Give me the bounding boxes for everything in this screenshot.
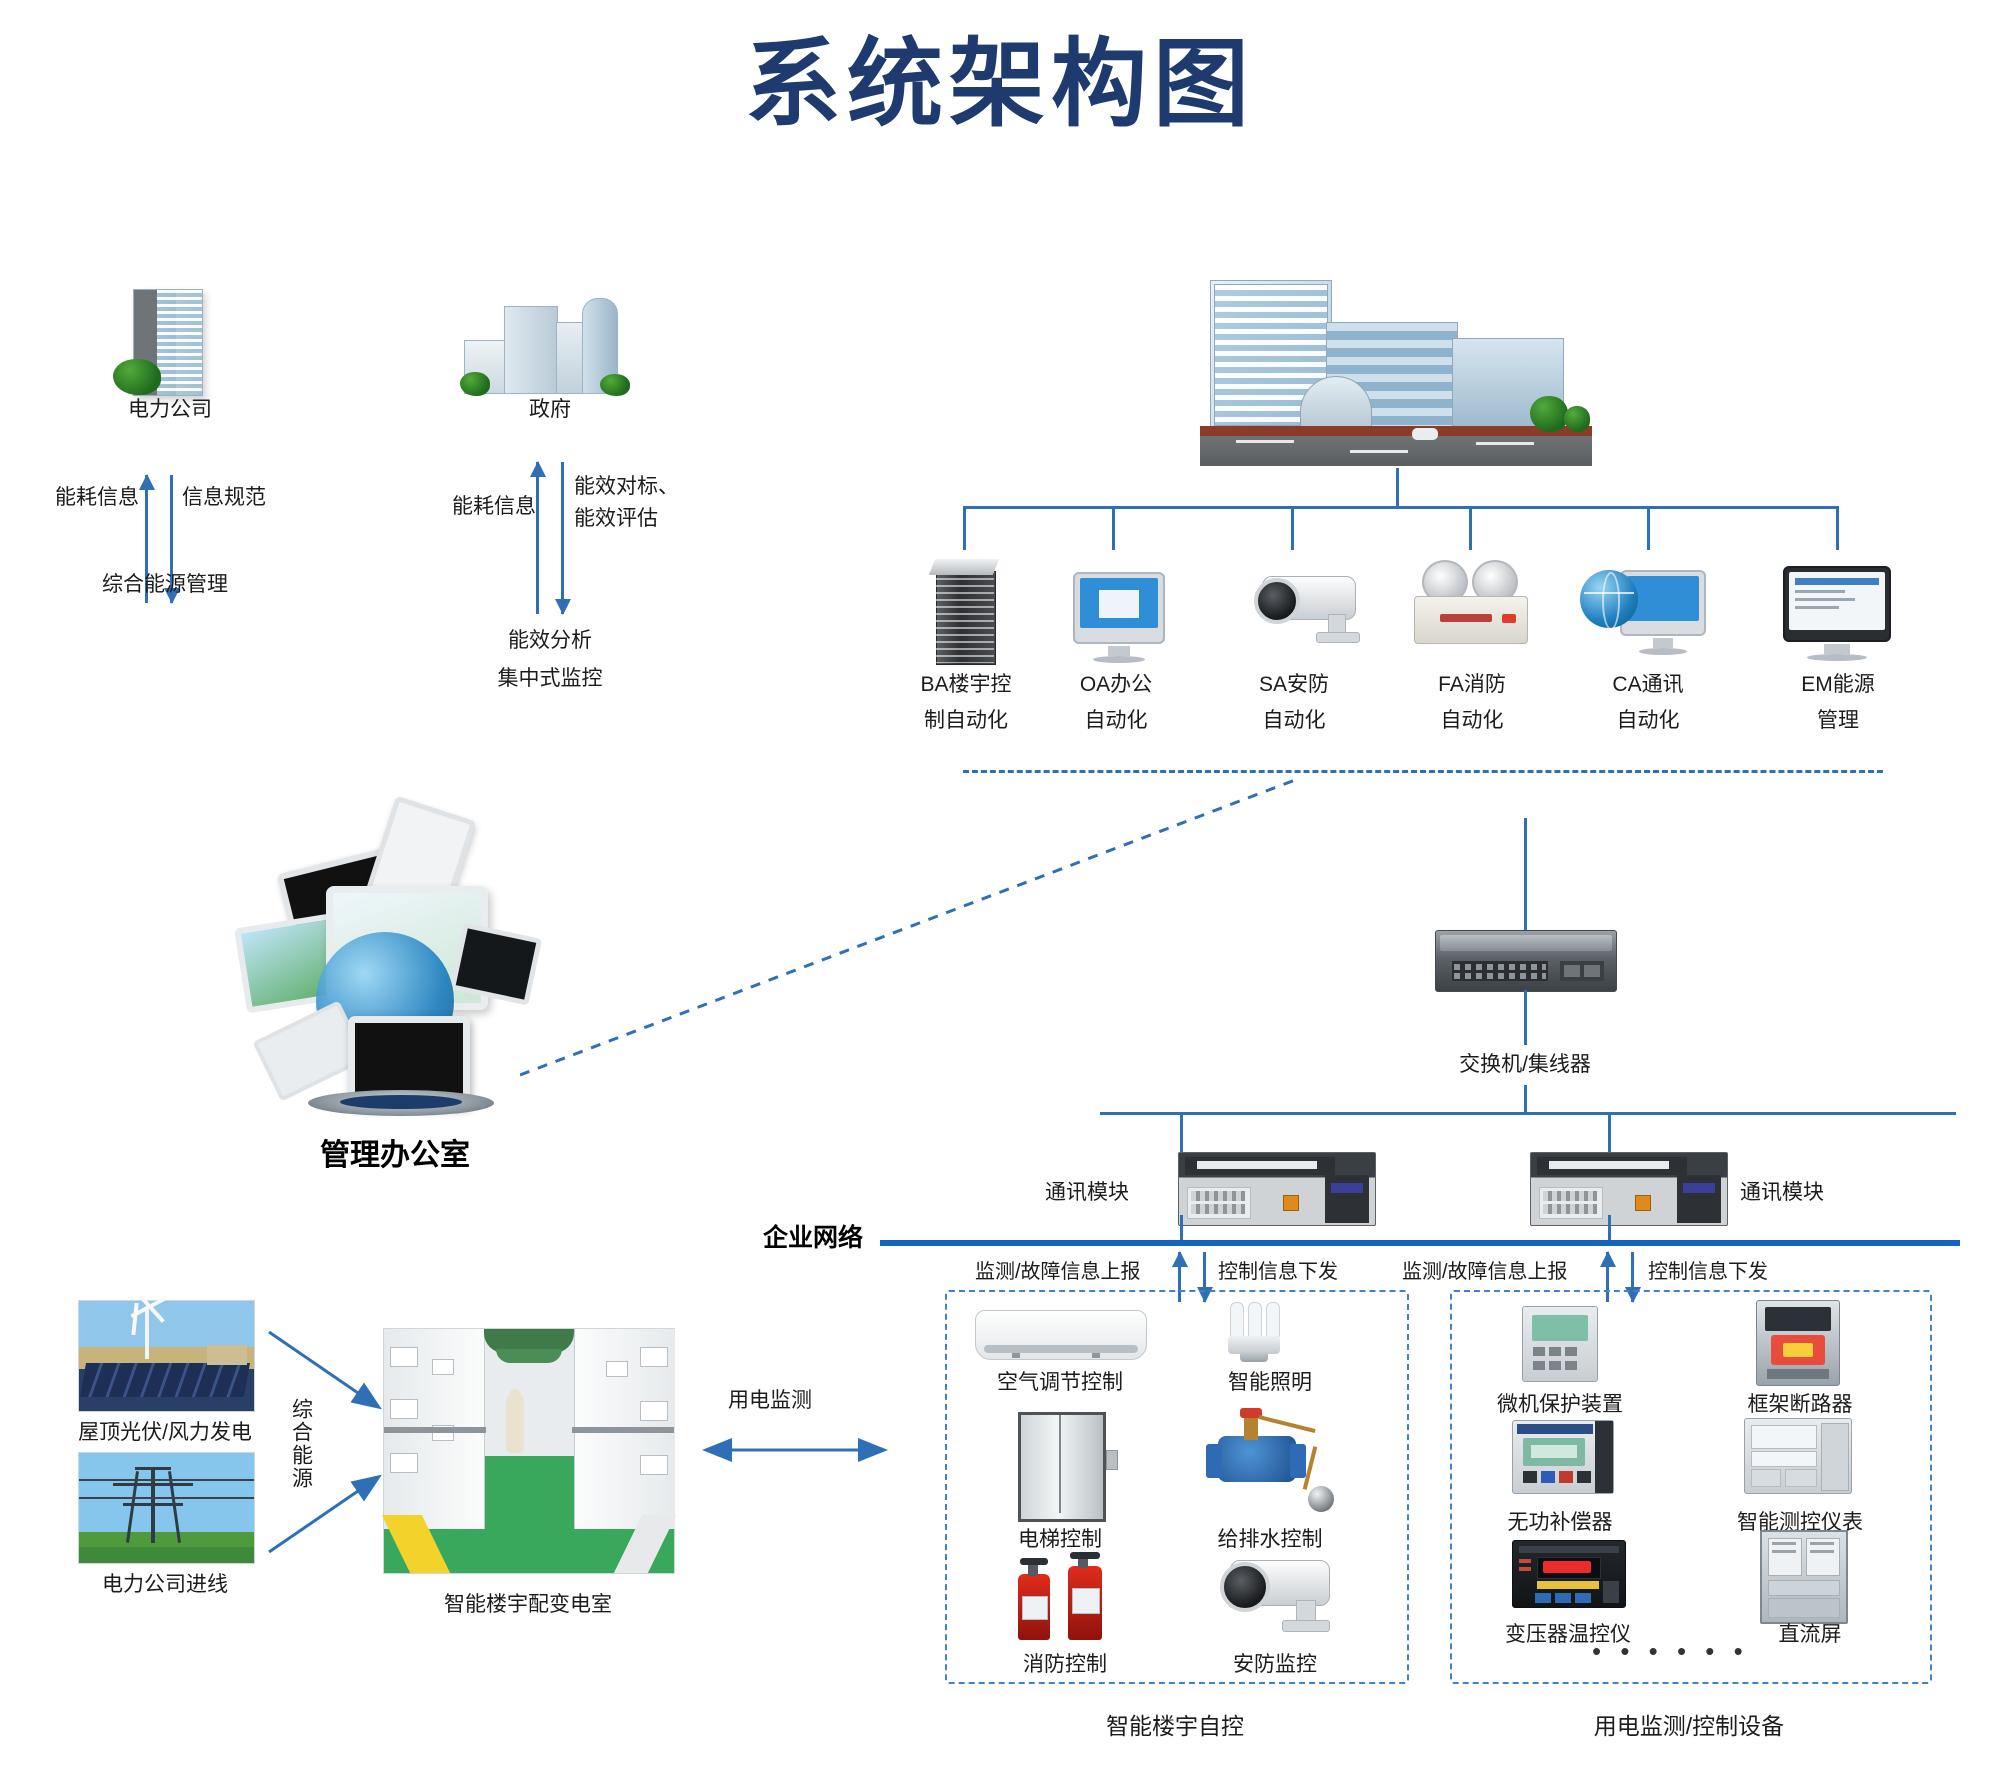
network-switch-icon: [1435, 930, 1617, 992]
security-camera-icon: [1240, 570, 1370, 646]
solar-wind-photo: [78, 1300, 255, 1412]
subsystem-3-line1: SA安防: [1218, 670, 1370, 700]
government-down-label-line2: 能效评估: [574, 504, 658, 534]
subsystem-5-line1: CA通讯: [1572, 670, 1724, 700]
subsystem-bus: [963, 506, 1838, 509]
reactive-compensator-icon: [1512, 1420, 1614, 1494]
switch-uplink-line: [1524, 818, 1527, 930]
subsystem-5-line2: 自动化: [1572, 706, 1724, 736]
subsystem-1-line2: 制自动化: [880, 706, 1052, 736]
switch-label: 交换机/集线器: [1380, 1050, 1670, 1080]
management-office-link: [520, 770, 1320, 1080]
management-office-label: 管理办公室: [205, 1130, 585, 1174]
frame-breaker-icon: [1756, 1300, 1840, 1386]
pm-upload-label: 监测/故障信息上报: [1402, 1258, 1568, 1286]
ba-item-6-label: 安防监控: [1190, 1650, 1360, 1680]
branch-drop-3: [1291, 506, 1294, 550]
cfl-bulb-icon: [1216, 1302, 1296, 1362]
power-monitoring-ellipsis: • • • • • •: [1592, 1636, 1749, 1667]
fire-extinguisher-icon: [1010, 1552, 1120, 1644]
elevator-call-panel-icon: [1106, 1450, 1118, 1470]
power-company-down-label: 信息规范: [182, 483, 266, 513]
switch-downlink-line: [1524, 990, 1527, 1045]
pm-item-2-label: 框架断路器: [1710, 1390, 1890, 1420]
government-icon-group: [460, 288, 640, 398]
power-company-up-label: 能耗信息: [55, 483, 139, 513]
subsystem-6-line2: 管理: [1762, 706, 1914, 736]
subsystem-2-line1: OA办公: [1040, 670, 1192, 700]
subsystem-6-line1: EM能源: [1762, 670, 1914, 700]
security-camera-icon-2: [1200, 1556, 1350, 1642]
integrated-energy-arrow-label: 综合能源: [285, 1398, 315, 1490]
ba-item-2-label: 智能照明: [1180, 1368, 1360, 1398]
campus-building-icon: [1200, 280, 1600, 470]
page-title: 系统架构图: [0, 6, 2000, 145]
power-company-label: 电力公司: [55, 395, 285, 425]
communication-module-icon-2: [1530, 1152, 1728, 1226]
branch-drop-2: [1112, 506, 1115, 550]
power-monitoring-arrow: [700, 1430, 890, 1470]
energy-monitor-icon: [1783, 566, 1891, 642]
subsystem-1-line1: BA楼宇控: [880, 670, 1052, 700]
government-label: 政府: [440, 395, 660, 425]
power-company-icon-group: [105, 285, 235, 400]
integrated-energy-management-label: 综合能源管理: [35, 570, 295, 600]
solar-wind-label: 屋顶光伏/风力发电: [40, 1418, 290, 1448]
branch-drop-5: [1647, 506, 1650, 550]
comm-module-left-label: 通讯模块: [1045, 1178, 1129, 1208]
energy-analysis-label: 能效分析: [430, 626, 670, 656]
ba-upload-label: 监测/故障信息上报: [975, 1258, 1141, 1286]
pm-item-6-label: 直流屏: [1740, 1620, 1880, 1650]
ba-download-label: 控制信息下发: [1218, 1258, 1338, 1286]
emergency-light-icon: [1410, 560, 1535, 650]
subsystem-4-line1: FA消防: [1396, 670, 1548, 700]
ba-item-3-label: 电梯控制: [975, 1525, 1145, 1555]
branch-drop-1: [963, 506, 966, 550]
centralized-monitoring-label: 集中式监控: [430, 664, 670, 694]
building-icon: [930, 555, 1002, 665]
transmission-tower-photo: [78, 1452, 255, 1564]
government-up-arrow: [536, 462, 539, 614]
comm-module-right-label: 通讯模块: [1740, 1178, 1824, 1208]
building-automation-caption: 智能楼宇自控: [945, 1710, 1405, 1743]
air-conditioner-icon: [975, 1310, 1147, 1360]
government-down-arrow: [561, 462, 564, 614]
government-up-label: 能耗信息: [452, 492, 536, 522]
multi-screen-cluster-icon: [230, 800, 560, 1120]
substation-label: 智能楼宇配变电室: [378, 1590, 678, 1620]
pm-download-label: 控制信息下发: [1648, 1258, 1768, 1286]
enterprise-network-label: 企业网络: [763, 1218, 875, 1254]
protection-relay-icon: [1522, 1306, 1598, 1382]
switch-to-bus-line: [1524, 1085, 1527, 1113]
pm-item-3-label: 无功补偿器: [1470, 1508, 1650, 1538]
comm-distribution-bus: [1100, 1112, 1956, 1115]
subsystem-2-line2: 自动化: [1040, 706, 1192, 736]
government-down-label-line1: 能效对标、: [574, 472, 679, 502]
switchgear-room-photo: [383, 1328, 675, 1574]
smart-meter-icon: [1744, 1418, 1852, 1494]
power-monitoring-arrow-label: 用电监测: [728, 1386, 812, 1416]
pm-item-1-label: 微机保护装置: [1470, 1390, 1650, 1420]
branch-drop-4: [1469, 506, 1472, 550]
dc-panel-icon: [1760, 1530, 1848, 1624]
subsystem-4-line2: 自动化: [1396, 706, 1548, 736]
ba-item-1-label: 空气调节控制: [955, 1368, 1165, 1398]
branch-drop-6: [1836, 506, 1839, 550]
globe-network-icon: [1580, 566, 1710, 650]
desktop-monitor-icon: [1073, 572, 1165, 644]
ba-item-4-label: 给排水控制: [1175, 1525, 1365, 1555]
elevator-icon: [1018, 1412, 1106, 1522]
transformer-thermostat-icon: [1512, 1540, 1626, 1608]
water-valve-icon: [1200, 1402, 1340, 1514]
power-monitoring-caption: 用电监测/控制设备: [1450, 1710, 1928, 1743]
subsystem-3-line2: 自动化: [1218, 706, 1370, 736]
campus-trunk-line: [1396, 468, 1399, 508]
enterprise-network-bus: [880, 1240, 1960, 1246]
grid-line-label: 电力公司进线: [40, 1570, 290, 1600]
ba-item-5-label: 消防控制: [985, 1650, 1145, 1680]
communication-module-icon: [1178, 1152, 1376, 1226]
